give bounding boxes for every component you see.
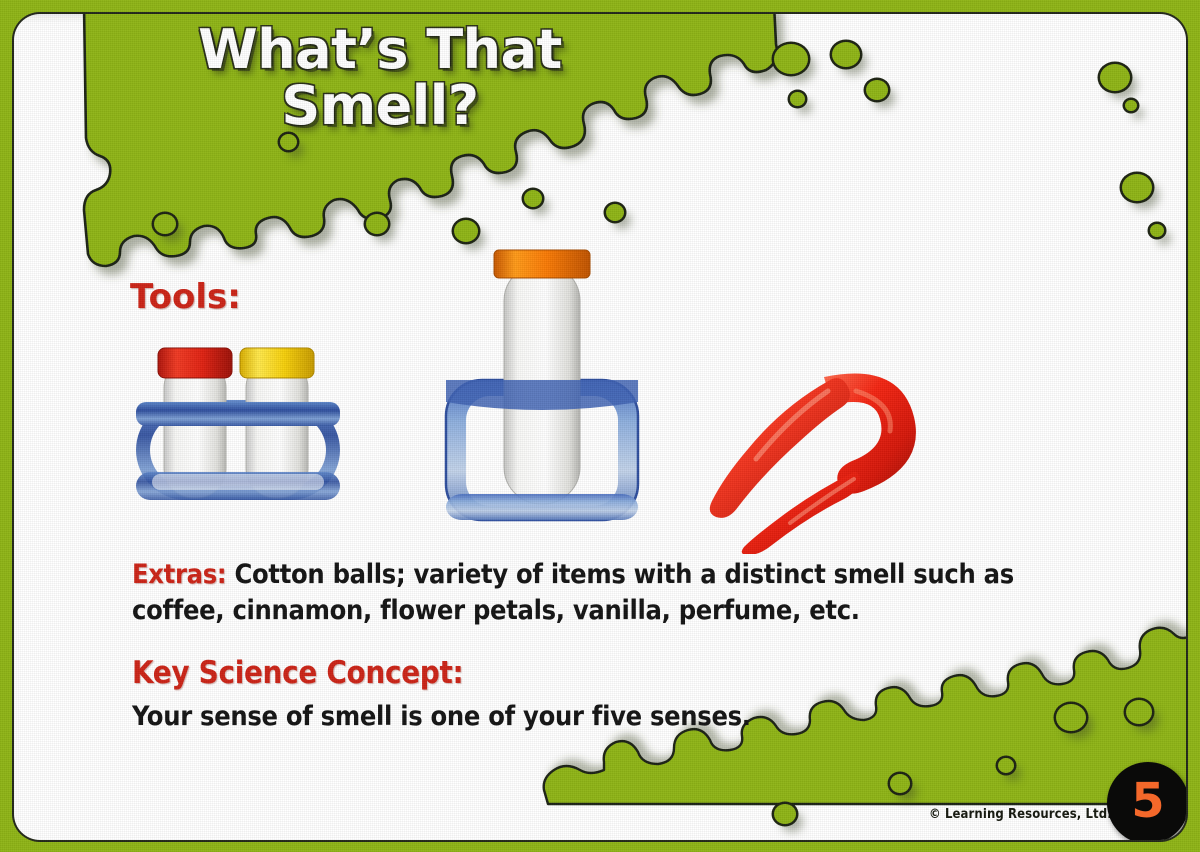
tools-label: Tools: bbox=[130, 277, 241, 317]
key-science-concept-label: Key Science Concept: bbox=[132, 655, 463, 691]
card-inner-page: Tools: bbox=[14, 14, 1186, 840]
copyright-notice: © Learning Resources, Ltd. bbox=[929, 807, 1112, 822]
tool-red-plastic-tweezers bbox=[704, 369, 934, 554]
page-number-badge: 5 bbox=[1107, 762, 1186, 840]
tool-two-test-tubes-in-blue-rack bbox=[134, 344, 344, 524]
key-science-concept-text: Your sense of smell is one of your five … bbox=[132, 699, 1032, 735]
page-title-line-1: What’s That bbox=[198, 18, 562, 81]
tool-single-test-tube-in-blue-stand bbox=[442, 246, 642, 526]
extras-text: Cotton balls; variety of items with a di… bbox=[132, 559, 1014, 626]
page-title-line-2: Smell? bbox=[120, 78, 640, 134]
page-number-text: 5 bbox=[1107, 762, 1186, 840]
extras-label: Extras: bbox=[132, 559, 226, 590]
activity-card: Tools: bbox=[0, 0, 1200, 852]
extras-paragraph: Extras: Cotton balls; variety of items w… bbox=[132, 557, 1092, 629]
page-title: What’s That Smell? bbox=[120, 22, 640, 134]
